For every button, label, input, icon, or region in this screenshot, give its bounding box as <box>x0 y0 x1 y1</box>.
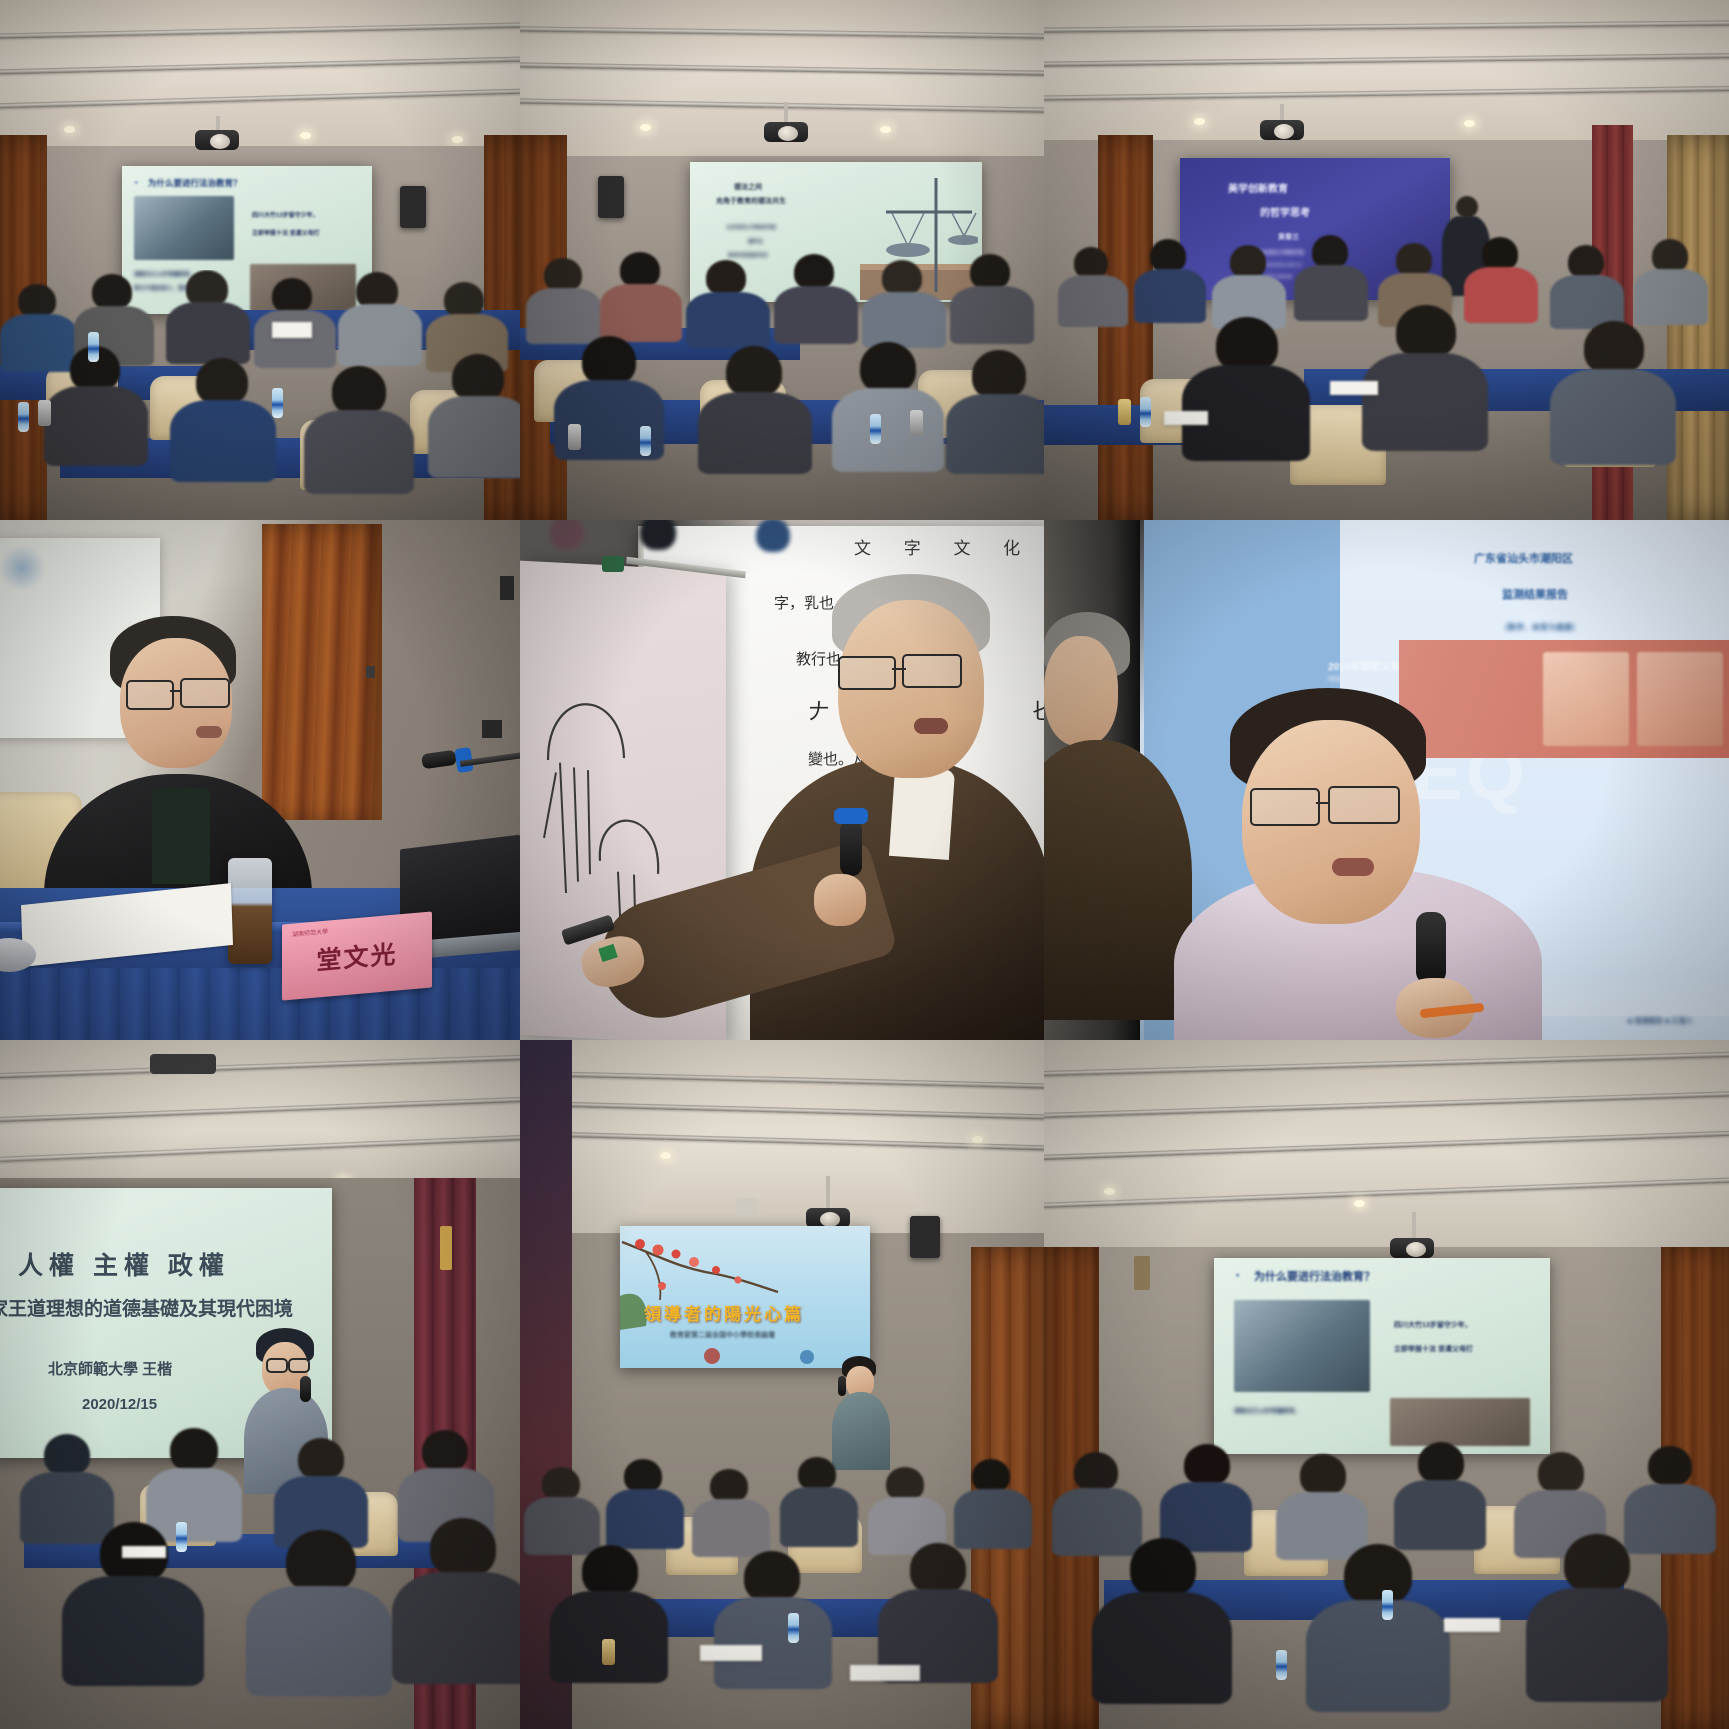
water-bottle <box>18 402 29 432</box>
audience-head <box>756 520 790 552</box>
lecturer-collar <box>889 766 955 860</box>
slide-title-line2: 充角于教育的德法共生 <box>716 196 786 206</box>
audience-body <box>246 1586 392 1696</box>
slide-affiliation: 北京師範大學 王楷 <box>48 1358 172 1379</box>
downlight <box>660 1152 671 1159</box>
audience-head <box>544 258 582 292</box>
glasses-left-lens <box>266 1358 288 1373</box>
audience-body <box>1306 1600 1450 1712</box>
room-background: • 为什么要进行法治教育？ 四川大竹13岁留守少年， 立即举报十法 坚遣父母打 … <box>0 0 520 520</box>
thermos-cup <box>568 424 581 450</box>
lecturer-hand-mic <box>814 874 866 926</box>
audience-body <box>1550 369 1676 465</box>
audience-body <box>600 284 682 342</box>
audience-head <box>1482 237 1518 271</box>
room-background: • 为什么要进行法治教育？ 四川大竹13岁留守少年， 立即举报十法 坚遣父母打 … <box>1044 1040 1729 1729</box>
audience-head <box>1648 1446 1692 1486</box>
water-bottle <box>1382 1590 1393 1620</box>
audience-body <box>254 310 336 368</box>
audience-head <box>272 278 312 314</box>
slide-logo <box>704 1348 720 1364</box>
mouth <box>196 726 222 738</box>
audience-body <box>170 400 276 482</box>
portrait-background: 广东省汕头市潮阳区 监测结果报告 （数学、体育与健康） 2015年国家义务教育质… <box>1044 520 1729 1040</box>
water-bottle <box>1276 1650 1287 1680</box>
water-bottle <box>1140 397 1151 427</box>
glasses-right-lens <box>180 678 230 708</box>
projector-lens <box>778 126 798 141</box>
audience-body <box>774 286 858 344</box>
slide-title: 人權 主權 政權 <box>18 1246 230 1282</box>
audience-head <box>1568 245 1604 279</box>
audience-body <box>428 396 520 478</box>
paper-sheet <box>1330 381 1378 395</box>
audience-body <box>524 1497 600 1555</box>
audience-body <box>1134 269 1206 323</box>
audience-head <box>1150 239 1186 273</box>
glasses-right-lens <box>902 654 962 688</box>
downlight <box>1464 120 1475 127</box>
ceiling-vent <box>150 1054 216 1074</box>
audience-body <box>1092 1592 1232 1704</box>
audience-body <box>862 292 946 348</box>
paper-sheet <box>850 1665 920 1681</box>
audience-body <box>1464 267 1538 323</box>
slide-title: 領導者的陽光心篇 <box>644 1300 804 1325</box>
audience-head <box>1184 1444 1230 1486</box>
audience-head <box>444 282 484 318</box>
collage-panel-top-right: 美学创新教育 的哲学思考 黄春兰 北京师范大学教育学部 huazhua@bnu.… <box>1044 0 1729 520</box>
slide-body-line1: 四川大竹13岁留守少年， <box>252 210 319 219</box>
room-background: 人權 主權 政權 儒家王道理想的道德基礎及其現代困境 北京師範大學 王楷 202… <box>0 1040 520 1729</box>
mouth <box>914 718 948 734</box>
water-bottle <box>176 1522 187 1552</box>
audience-body <box>62 1576 204 1686</box>
audience-body <box>1394 1480 1486 1550</box>
slide-footer-note: ◆ 监测报告 ◆ 汇报人 <box>1627 1016 1693 1026</box>
glasses-bridge <box>170 690 182 692</box>
projector-stem <box>826 1176 830 1210</box>
collage-panel-bottom-left: 人權 主權 政權 儒家王道理想的道德基礎及其現代困境 北京師範大學 王楷 202… <box>0 1040 520 1729</box>
audience <box>0 270 520 520</box>
speaker-box <box>400 186 426 228</box>
background-screen-graphic <box>0 548 48 588</box>
collage-panel-top-left: • 为什么要进行法治教育？ 四川大竹13岁留守少年， 立即举报十法 坚遣父母打 … <box>0 0 520 520</box>
downlight <box>1104 1188 1115 1195</box>
slide-title: 为什么要进行法治教育？ <box>148 177 242 189</box>
water-bottle <box>640 426 651 456</box>
audience-body <box>550 1591 668 1683</box>
downlight <box>640 124 651 131</box>
audience-body <box>954 1489 1032 1549</box>
audience-body <box>832 388 944 472</box>
audience-head <box>298 1438 344 1480</box>
audience-body <box>950 286 1034 344</box>
downlight <box>64 126 75 133</box>
projector-stem <box>784 102 788 124</box>
wall-fixture <box>500 576 514 600</box>
slide-date: 2020/12/15 <box>82 1396 157 1413</box>
slide-subtitle: 教育家第二届全国中小學校長論壇 <box>670 1330 775 1340</box>
water-bottle <box>870 414 881 444</box>
slide-heading-line3: （数学、体育与健康） <box>1500 622 1580 633</box>
audience-body <box>946 394 1044 474</box>
downlight <box>1194 118 1205 125</box>
audience-head <box>624 1459 662 1493</box>
audience-body <box>526 288 602 344</box>
audience-head <box>620 252 660 288</box>
audience-head <box>972 350 1026 400</box>
audience-head <box>452 354 504 402</box>
slide-body-line2: 立即举报十法 坚遣父母打 <box>1394 1344 1473 1354</box>
ceiling-smoke-detector <box>736 1198 758 1216</box>
audience <box>520 250 1044 520</box>
audience-head <box>542 1467 580 1501</box>
projector-stem <box>1412 1212 1416 1240</box>
audience-head <box>1230 245 1266 279</box>
audience-body <box>44 386 148 466</box>
speaker-box <box>598 176 624 218</box>
downlight <box>1354 1200 1365 1207</box>
audience-body <box>692 1499 770 1557</box>
projector-lens <box>820 1212 840 1227</box>
glasses-bridge <box>892 668 906 670</box>
glass-tumbler <box>228 858 272 964</box>
audience-head <box>1564 1534 1630 1594</box>
audience-head <box>1130 1538 1196 1598</box>
slide-photo-fist <box>1234 1300 1370 1392</box>
audience-body <box>1052 1488 1142 1556</box>
audience <box>0 1426 520 1729</box>
audience-head <box>430 1518 496 1578</box>
audience-head <box>1418 1442 1464 1484</box>
slide-title-line2: 的哲学思考 <box>1260 204 1310 219</box>
audience-head <box>882 260 922 296</box>
audience-head <box>886 1467 924 1501</box>
thermos-cup <box>1118 399 1131 425</box>
audience-body <box>392 1572 520 1684</box>
audience-head <box>44 1434 90 1476</box>
thermos-cup <box>910 410 923 436</box>
water-bottle <box>88 332 99 362</box>
audience <box>520 1453 1044 1729</box>
audience-head <box>92 274 132 310</box>
audience-head <box>1584 321 1644 375</box>
glasses-left-lens <box>1250 788 1320 826</box>
water-bottle <box>788 1613 799 1643</box>
audience-body <box>146 1468 242 1542</box>
audience-body <box>304 410 414 494</box>
slide-sub-line1: 北京师范大学教育学部 <box>726 224 776 231</box>
audience-head <box>706 260 746 296</box>
audience-body <box>1294 265 1368 321</box>
paper-sheet <box>272 322 312 338</box>
audience-head <box>1396 243 1432 277</box>
slide-heading-line2: 监测结果报告 <box>1502 586 1568 602</box>
collage-panel-top-center: 德法之间 充角于教育的德法共生 北京师范大学教育学部 檀传宝 教育学原理研究所 <box>520 0 1044 520</box>
audience-body <box>1362 353 1488 451</box>
audience-head <box>860 342 916 394</box>
slide-title: 为什么要进行法治教育？ <box>1254 1268 1375 1284</box>
glasses-bridge <box>1316 802 1330 804</box>
wall-sign <box>1134 1256 1150 1290</box>
slide-title-line1: 美学创新教育 <box>1228 180 1288 195</box>
slide-bullet: • <box>135 178 138 187</box>
audience-body <box>338 304 422 366</box>
audience-body <box>698 392 812 474</box>
photo-collage: • 为什么要进行法治教育？ 四川大竹13岁留守少年， 立即举报十法 坚遣父母打 … <box>0 0 1729 1729</box>
slide-heading-line1: 广东省汕头市潮阳区 <box>1474 550 1573 566</box>
audience-head <box>710 1469 748 1503</box>
slide-logo <box>800 1350 814 1364</box>
downlight <box>972 1136 983 1143</box>
audience-head <box>1344 1544 1412 1606</box>
audience-body <box>606 1489 684 1549</box>
background-audience <box>520 520 1044 560</box>
audience-head <box>1538 1452 1584 1494</box>
slide-body-line2: 立即举报十法 坚遣父母打 <box>252 228 320 237</box>
room-background: 領導者的陽光心篇 教育家第二届全国中小學校長論壇 <box>520 1040 1044 1729</box>
paper-sheet <box>1164 411 1208 425</box>
audience-body <box>1276 1492 1368 1560</box>
glasses-left-lens <box>126 680 174 710</box>
audience-head <box>1074 1452 1118 1492</box>
audience-head <box>910 1543 966 1595</box>
audience-head <box>970 254 1010 290</box>
audience-body <box>686 292 770 348</box>
audience-body <box>780 1487 858 1547</box>
table-skirt-pleats <box>0 968 520 1040</box>
handheld-microphone <box>300 1376 311 1402</box>
audience-head <box>640 520 676 550</box>
slide-subtitle: 儒家王道理想的道德基礎及其現代困境 <box>0 1294 293 1321</box>
audience-head <box>582 336 636 386</box>
audience <box>1044 229 1729 520</box>
mouth <box>1332 858 1374 876</box>
projection-screen: 領導者的陽光心篇 教育家第二届全国中小學校長論壇 <box>620 1226 870 1368</box>
wall-outlet <box>482 720 502 738</box>
audience-head <box>798 1457 836 1491</box>
face <box>1044 636 1118 746</box>
slide-sub-line2: 檀传宝 <box>748 238 763 245</box>
audience-head <box>286 1530 356 1594</box>
audience-body <box>0 314 78 372</box>
room-background: 美学创新教育 的哲学思考 黄春兰 北京师范大学教育学部 huazhua@bnu.… <box>1044 0 1729 520</box>
audience-head <box>18 284 56 318</box>
wall-light-fixture <box>440 1226 452 1270</box>
audience-head <box>726 346 782 398</box>
audience-body <box>166 302 250 364</box>
collage-panel-middle-left: 堂文光 湖南师范大學 <box>0 520 520 1040</box>
audience-head <box>582 1545 638 1597</box>
shirt-collar-gap <box>152 788 210 884</box>
audience-body <box>1634 269 1708 325</box>
audience-head <box>550 520 584 550</box>
room-background: 德法之间 充角于教育的德法共生 北京师范大学教育学部 檀传宝 教育学原理研究所 <box>520 0 1044 520</box>
downlight <box>452 136 463 143</box>
audience <box>1044 1440 1729 1729</box>
audience-head <box>1652 239 1688 273</box>
slide-bullet: • <box>1236 1270 1239 1280</box>
water-bottle <box>272 388 283 418</box>
audience-head <box>1396 305 1456 359</box>
audience-body <box>1526 1588 1668 1702</box>
audience-body <box>20 1472 114 1544</box>
projector-lens <box>1406 1242 1426 1257</box>
projector-lens <box>1274 124 1294 139</box>
portrait-background: 文 字 文 化 字，乳也。从子在宀下。 教行也。从攴从人。 變也。从到人。 𠂇 … <box>520 520 1044 1040</box>
microphone <box>421 750 457 770</box>
door-handle <box>366 666 375 678</box>
speaker-head <box>1456 196 1478 218</box>
paper-sheet <box>1444 1618 1500 1632</box>
slide-photo-thumb <box>1637 652 1723 746</box>
paper-sheet <box>700 1645 762 1661</box>
downlight <box>880 126 891 133</box>
audience-head <box>794 254 834 290</box>
downlight <box>300 132 311 139</box>
thermos-cup <box>38 400 51 426</box>
glasses-right-lens <box>1328 786 1400 824</box>
thermos-cup <box>602 1639 615 1665</box>
collage-panel-bottom-right: • 为什么要进行法治教育？ 四川大竹13岁留守少年， 立即举报十法 坚遣父母打 … <box>1044 1040 1729 1729</box>
collage-panel-bottom-center: 領導者的陽光心篇 教育家第二届全国中小學校長論壇 <box>520 1040 1044 1729</box>
audience-head <box>332 366 386 416</box>
handheld-microphone <box>1416 912 1446 984</box>
collage-panel-middle-center: 文 字 文 化 字，乳也。从子在宀下。 教行也。从攴从人。 變也。从到人。 𠂇 … <box>520 520 1044 1040</box>
slide-body-line1: 四川大竹13岁留守少年， <box>1394 1320 1472 1330</box>
audience-head <box>972 1459 1010 1493</box>
glasses-right-lens <box>288 1358 310 1373</box>
nameplate-text: 堂文光 <box>316 934 397 977</box>
handheld-microphone <box>840 820 862 876</box>
glasses-left-lens <box>838 656 896 690</box>
audience-body <box>1624 1484 1716 1554</box>
audience-head <box>170 1428 218 1472</box>
collage-panel-middle-right: 广东省汕头市潮阳区 监测结果报告 （数学、体育与健康） 2015年国家义务教育质… <box>1044 520 1729 1040</box>
slide-photo-fist <box>134 196 234 260</box>
projector-lens <box>210 134 230 149</box>
audience-head <box>422 1430 468 1472</box>
audience-head <box>1312 235 1348 269</box>
projection-screen: • 为什么要进行法治教育？ 四川大竹13岁留守少年， 立即举报十法 坚遣父母打 … <box>1214 1258 1550 1454</box>
microphone-collar <box>834 808 868 824</box>
handheld-microphone <box>838 1376 846 1396</box>
slide-photo-thumb <box>1543 652 1629 746</box>
audience-head <box>744 1551 800 1603</box>
speaker-box <box>910 1216 940 1258</box>
slide-title-line1: 德法之间 <box>734 182 762 192</box>
paper-sheet <box>122 1546 166 1558</box>
audience-body <box>1058 275 1128 327</box>
slide-footer-line1: 湖南沅江12岁男童弑母， <box>1234 1406 1301 1415</box>
audience-head <box>196 358 248 406</box>
audience-head <box>1300 1454 1346 1496</box>
wooden-door <box>262 524 382 820</box>
portrait-background: 堂文光 湖南师范大學 <box>0 520 520 1040</box>
audience-body <box>714 1597 832 1689</box>
